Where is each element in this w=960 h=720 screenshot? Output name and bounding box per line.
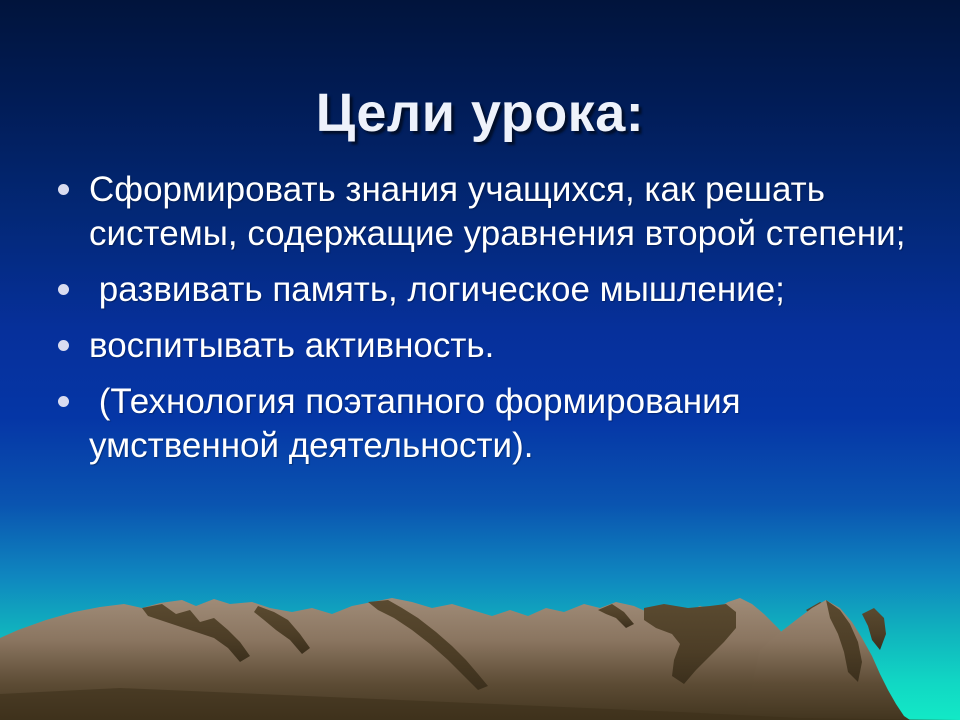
objectives-list: Сформировать знания учащихся, как решать… <box>46 168 936 481</box>
bullet-dot-icon <box>58 184 69 195</box>
mountain-range-illustration <box>0 590 960 720</box>
list-item-label: Сформировать знания учащихся, как решать… <box>89 168 936 256</box>
list-item-label: воспитывать активность. <box>89 324 936 368</box>
list-item-label: (Технология поэтапного формирования умст… <box>89 380 936 468</box>
bullet-dot-icon <box>58 284 69 295</box>
list-item-label: развивать память, логическое мышление; <box>89 268 936 312</box>
mountain-ridge-right <box>744 600 910 720</box>
list-item: (Технология поэтапного формирования умст… <box>46 380 936 468</box>
presentation-slide: Цели урока: Сформировать знания учащихся… <box>0 0 960 720</box>
list-item: Сформировать знания учащихся, как решать… <box>46 168 936 256</box>
bullet-dot-icon <box>58 340 69 351</box>
bullet-dot-icon <box>58 396 69 407</box>
list-item: развивать память, логическое мышление; <box>46 268 936 312</box>
list-item: воспитывать активность. <box>46 324 936 368</box>
mountain-shadow-facet-7 <box>862 608 886 650</box>
page-title: Цели урока: <box>0 82 960 144</box>
